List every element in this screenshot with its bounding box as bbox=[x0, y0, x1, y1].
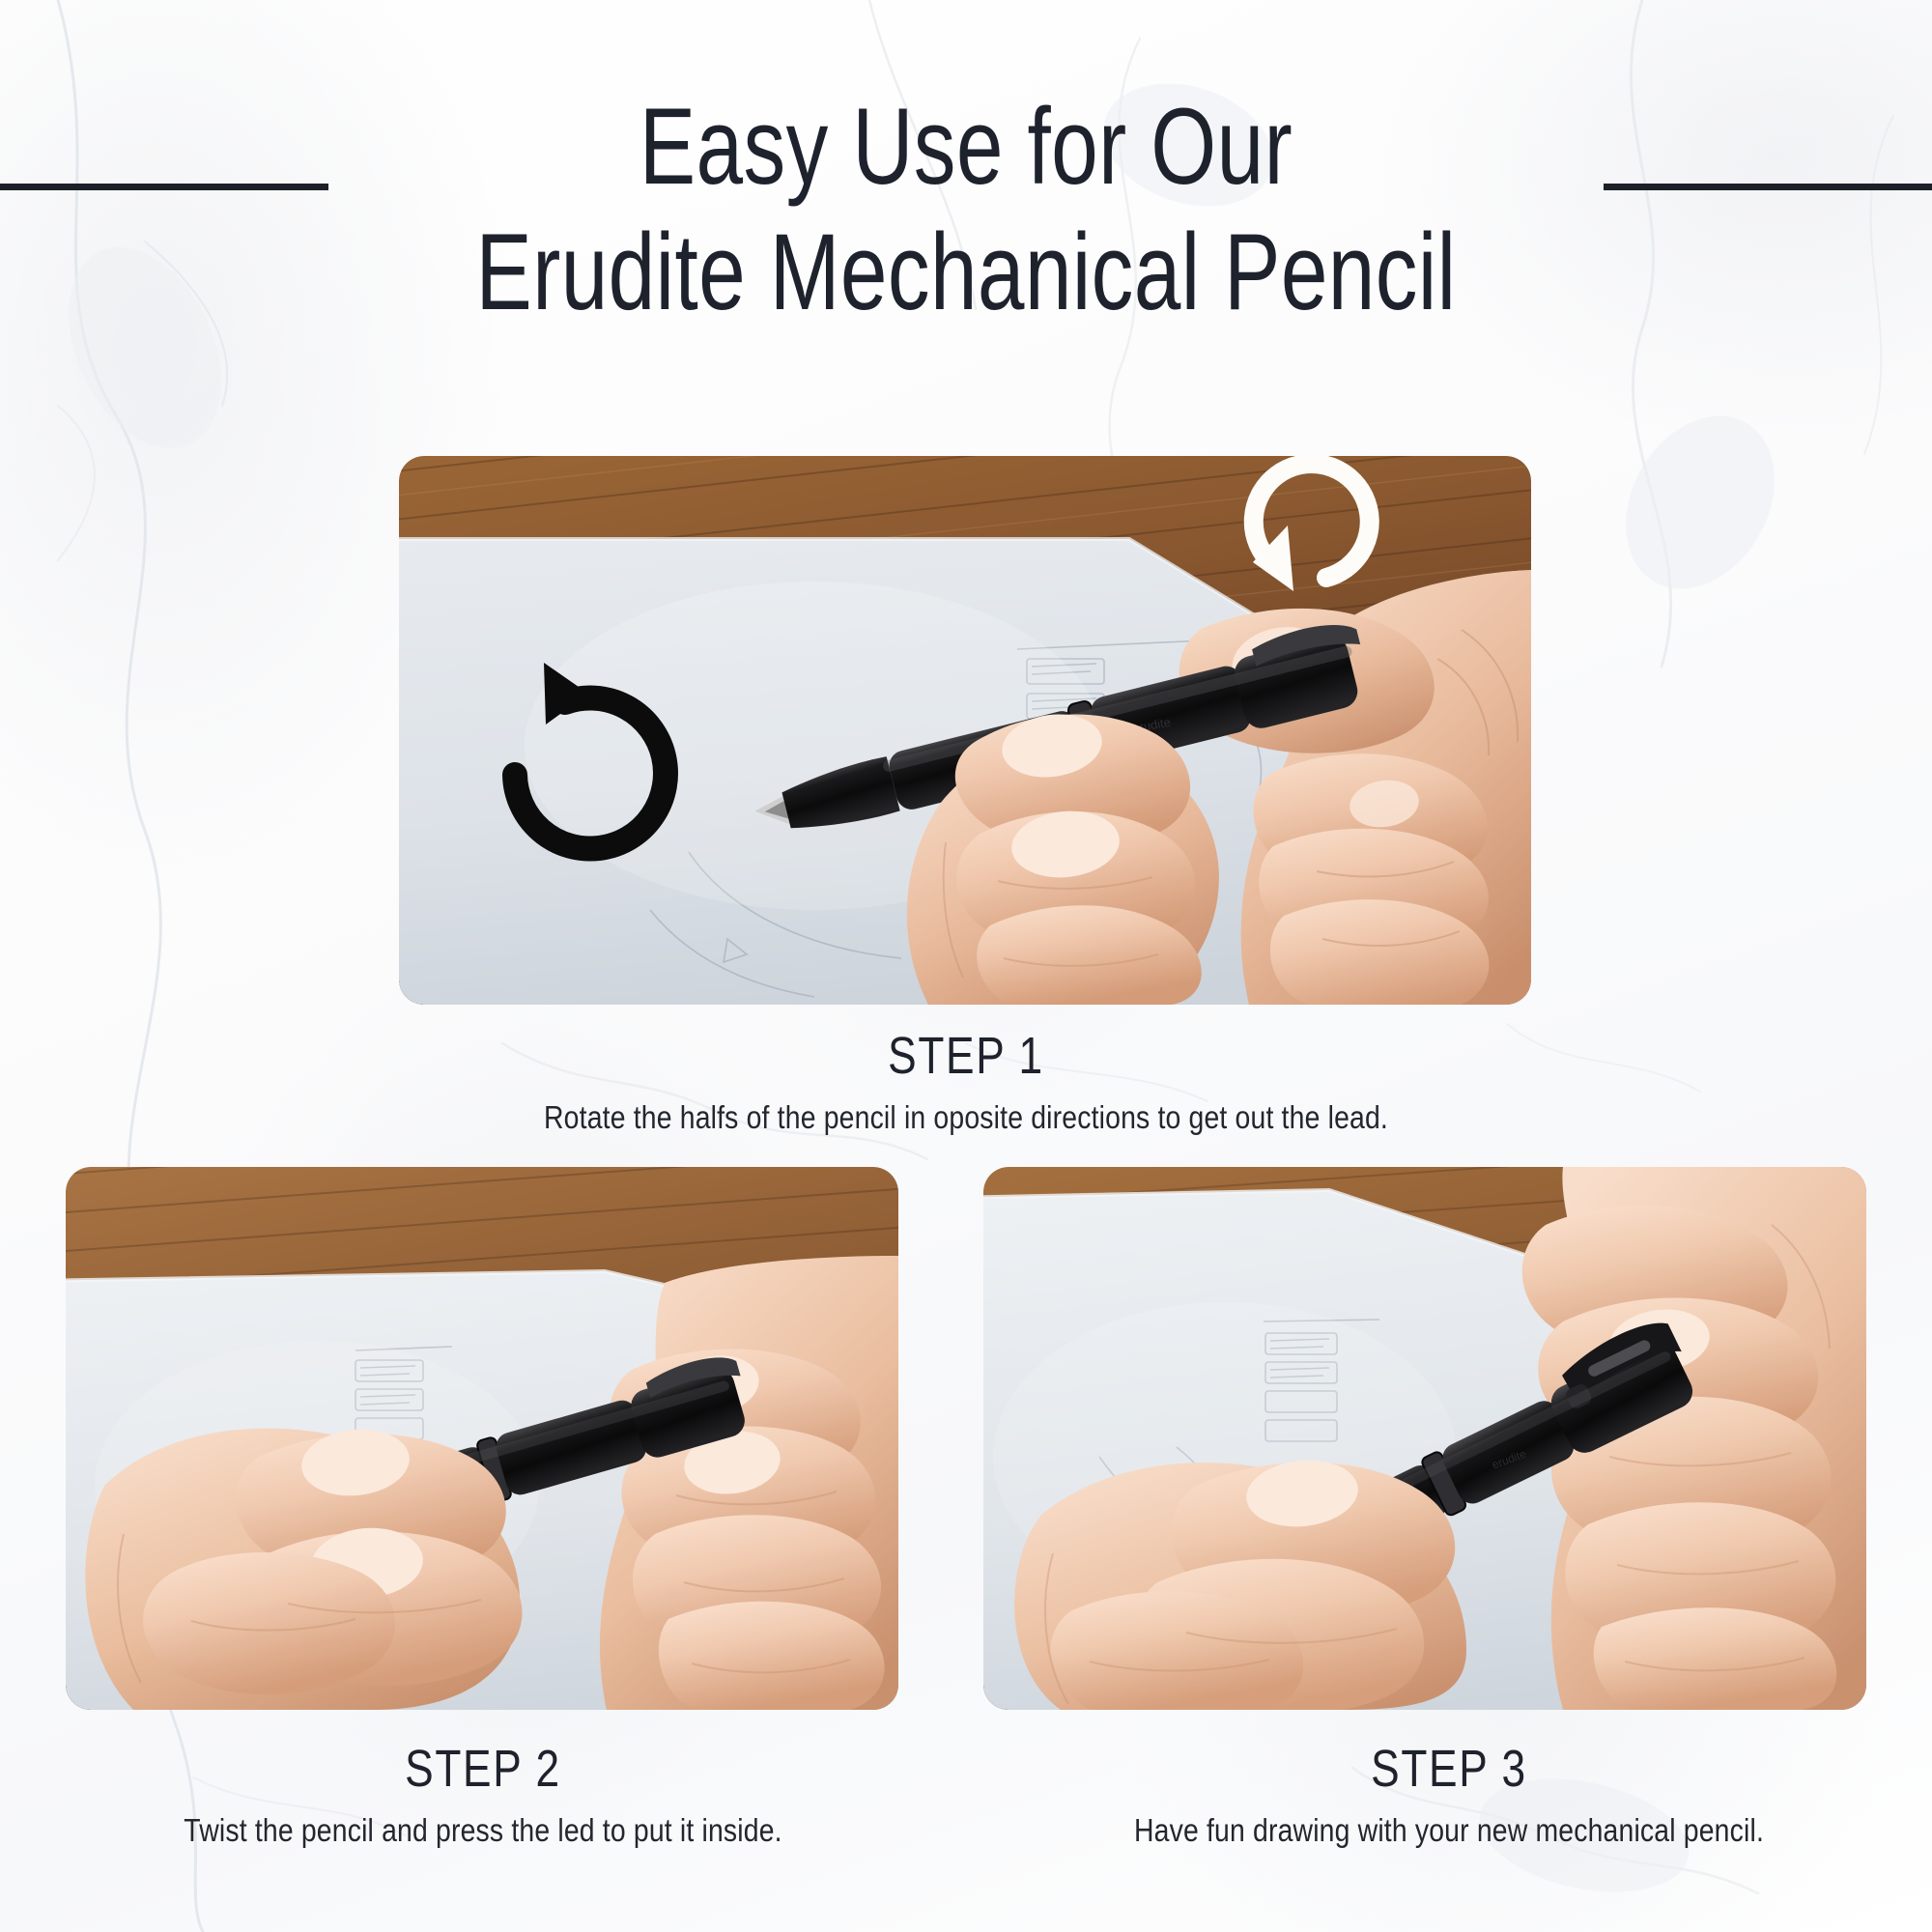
step-2-illustration bbox=[66, 1167, 898, 1710]
step-3-caption: STEP 3 Have fun drawing with your new me… bbox=[966, 1739, 1932, 1849]
step-1-description: Rotate the halfs of the pencil in oposit… bbox=[135, 1099, 1797, 1136]
step-3-photo: erudite bbox=[983, 1167, 1866, 1710]
step-1-caption: STEP 1 Rotate the halfs of the pencil in… bbox=[0, 1026, 1932, 1136]
title-line-1: Easy Use for Our bbox=[213, 93, 1719, 201]
infographic-page: Easy Use for Our Erudite Mechanical Penc… bbox=[0, 0, 1932, 1932]
title-line-2: Erudite Mechanical Pencil bbox=[213, 218, 1719, 327]
step-3-illustration: erudite bbox=[983, 1167, 1866, 1710]
page-title: Easy Use for Our Erudite Mechanical Penc… bbox=[0, 93, 1932, 327]
step-3-description: Have fun drawing with your new mechanica… bbox=[1034, 1812, 1864, 1849]
step-3-title: STEP 3 bbox=[1053, 1739, 1845, 1799]
step-1-photo: erudite bbox=[399, 456, 1531, 1005]
step-2-title: STEP 2 bbox=[87, 1739, 879, 1799]
step-1-title: STEP 1 bbox=[174, 1026, 1758, 1086]
step-2-photo bbox=[66, 1167, 898, 1710]
step-2-description: Twist the pencil and press the led to pu… bbox=[68, 1812, 898, 1849]
step-1-illustration: erudite bbox=[399, 456, 1531, 1005]
step-2-caption: STEP 2 Twist the pencil and press the le… bbox=[0, 1739, 966, 1849]
